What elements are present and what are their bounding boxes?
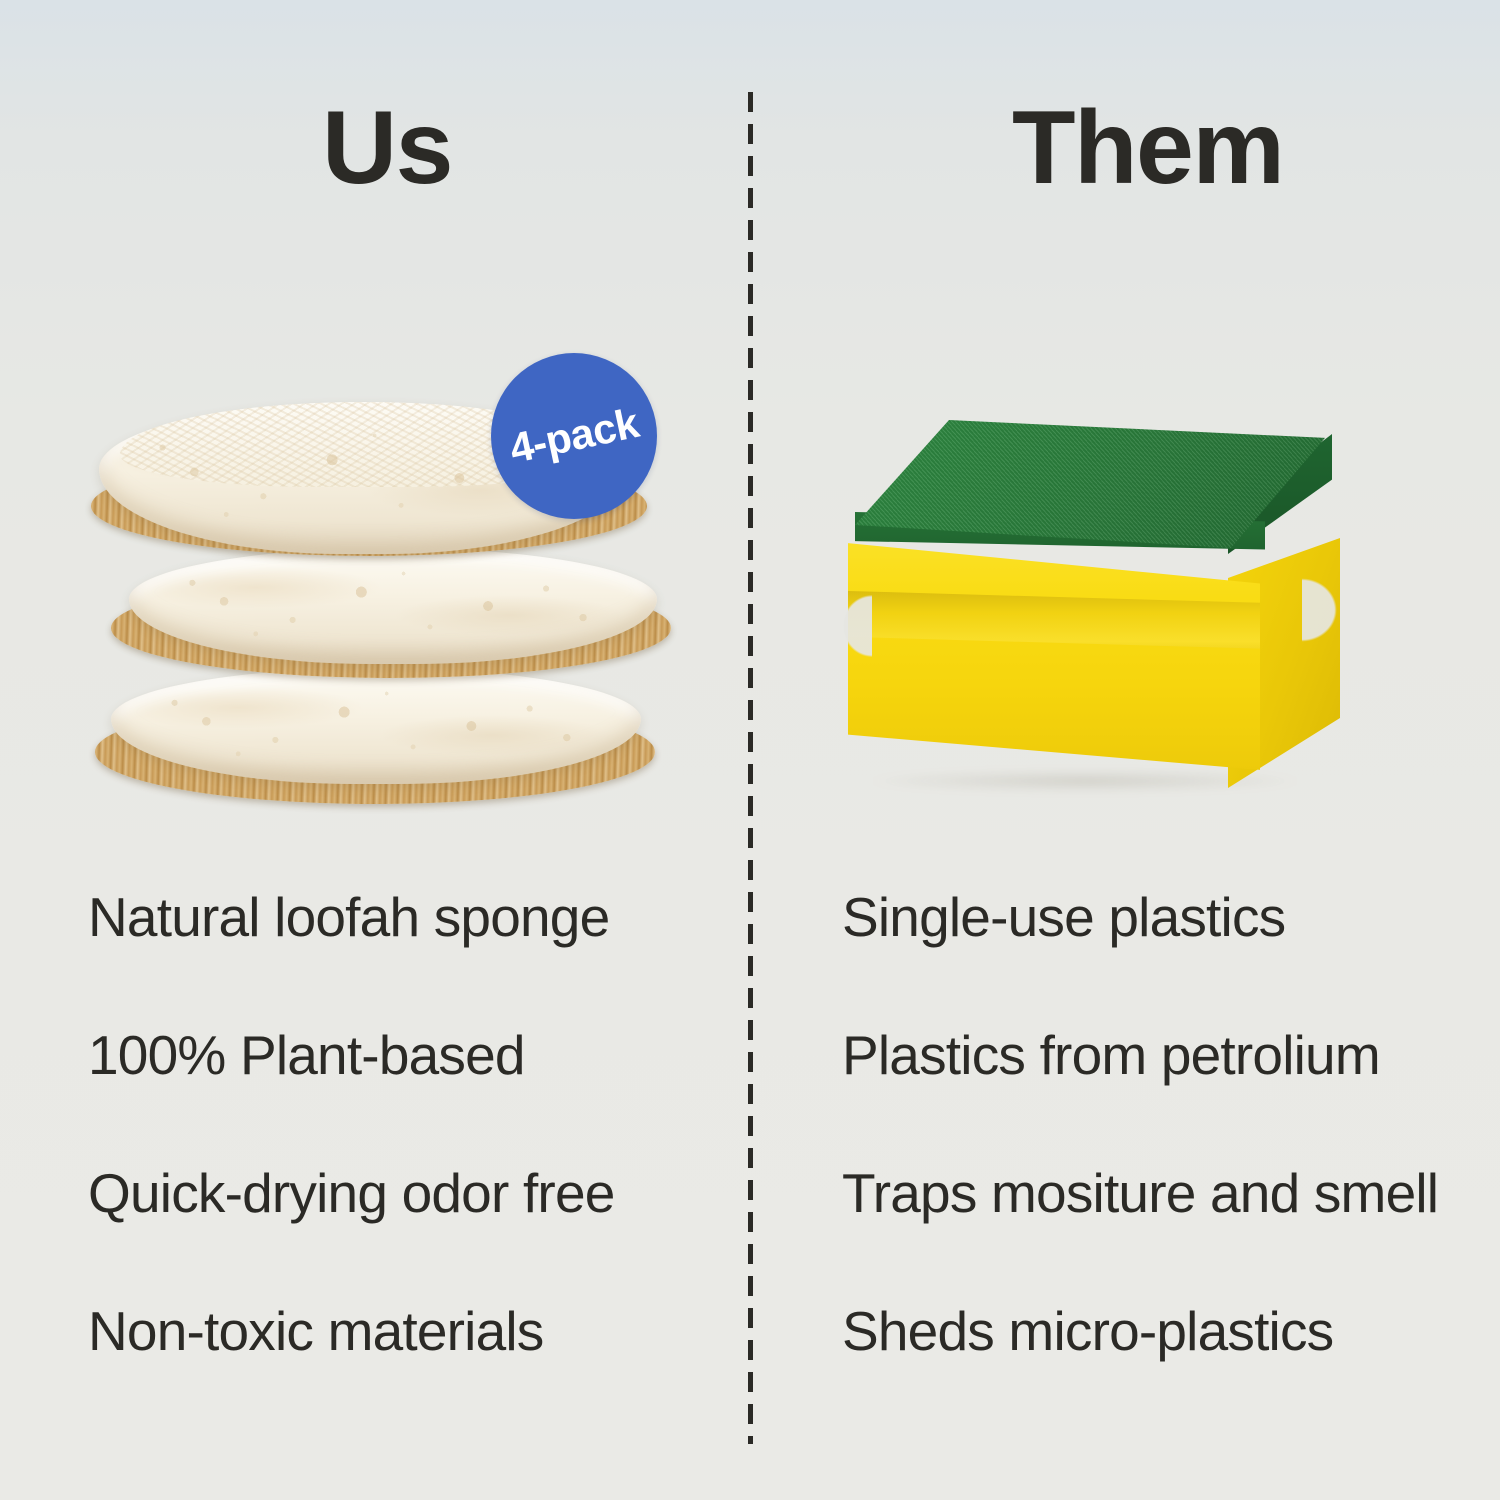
vertical-dashed-divider xyxy=(748,92,753,1444)
sponge-notch-right xyxy=(1302,570,1346,650)
four-pack-badge: 4-pack xyxy=(491,353,657,519)
feature-item: Traps mositure and smell xyxy=(842,1166,1482,1304)
feature-item: Sheds micro-plastics xyxy=(842,1304,1482,1442)
feature-list-us: Natural loofah sponge 100% Plant-based Q… xyxy=(88,890,728,1442)
feature-item: Natural loofah sponge xyxy=(88,890,728,1028)
feature-item: 100% Plant-based xyxy=(88,1028,728,1166)
sponge-foam-front-face xyxy=(848,528,1260,780)
loofah-pore-texture xyxy=(129,548,657,664)
four-pack-badge-label: 4-pack xyxy=(506,402,642,470)
product-image-plastic-sponge xyxy=(790,400,1470,860)
comparison-infographic: Us Them 4-pack xyxy=(0,0,1500,1500)
sponge-notch-left xyxy=(836,588,872,664)
feature-list-them: Single-use plastics Plastics from petrol… xyxy=(842,890,1482,1442)
column-heading-them: Them xyxy=(1012,96,1283,200)
feature-item: Non-toxic materials xyxy=(88,1304,728,1442)
feature-item: Plastics from petrolium xyxy=(842,1028,1482,1166)
plastic-sponge xyxy=(830,420,1410,810)
feature-item: Single-use plastics xyxy=(842,890,1482,1028)
loofah-pore-texture xyxy=(111,668,641,784)
feature-item: Quick-drying odor free xyxy=(88,1166,728,1304)
loofah-pad-middle-body xyxy=(129,548,657,664)
column-heading-us: Us xyxy=(322,96,452,200)
loofah-pad-bottom-body xyxy=(111,668,641,784)
